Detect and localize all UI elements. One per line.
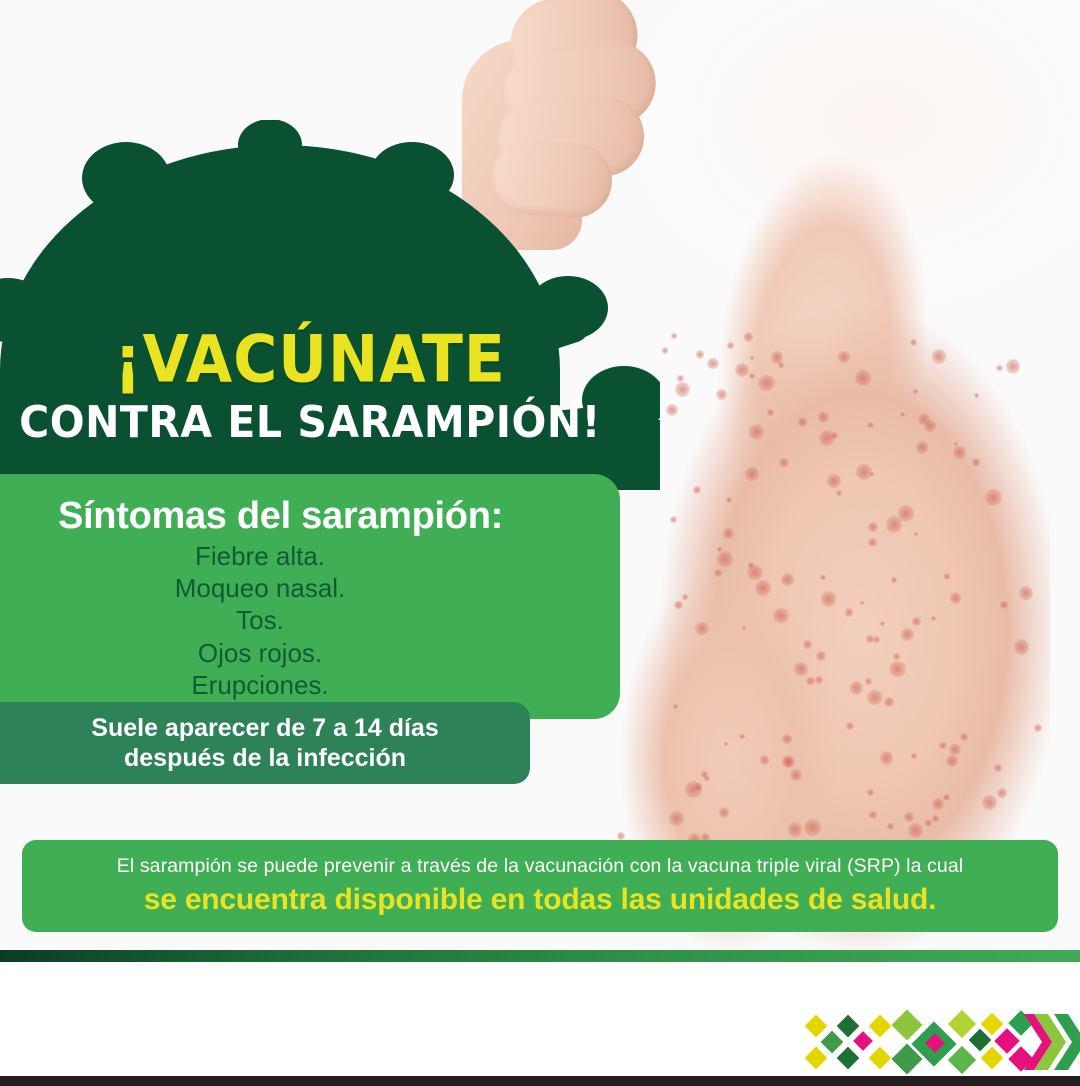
rash-spot xyxy=(889,661,905,677)
rash-spot xyxy=(821,591,837,607)
rash-spot xyxy=(932,815,939,822)
measles-vaccination-poster: ¡VACÚNATE CONTRA EL SARAMPIÓN! Síntomas … xyxy=(0,0,1080,1086)
rash-spot xyxy=(750,356,754,360)
rash-spot xyxy=(867,690,882,705)
rash-spot xyxy=(943,794,950,801)
symptom-item: Erupciones. xyxy=(30,669,490,701)
rash-spot xyxy=(869,811,877,819)
rash-spot xyxy=(908,823,923,838)
rash-spot xyxy=(735,363,749,377)
symptoms-list: Fiebre alta.Moqueo nasal.Tos.Ojos rojos.… xyxy=(30,540,590,701)
rash-spot xyxy=(717,551,733,567)
headline-sub: CONTRA EL SARAMPIÓN! xyxy=(0,397,620,448)
rash-spot xyxy=(997,788,1007,798)
incubation-period-badge: Suele aparecer de 7 a 14 días después de… xyxy=(0,702,530,784)
rash-spot xyxy=(916,441,928,453)
rash-spot xyxy=(815,676,823,684)
rash-spot xyxy=(773,608,788,623)
rash-spot xyxy=(994,764,1002,772)
symptom-item: Tos. xyxy=(30,604,490,636)
rash-spot xyxy=(758,375,774,391)
rash-spot xyxy=(779,458,789,468)
rash-spot xyxy=(739,734,745,740)
symptoms-title: Síntomas del sarampión: xyxy=(30,496,590,538)
prevention-message-banner: El sarampión se puede prevenir a través … xyxy=(22,840,1058,932)
rash-spot xyxy=(893,653,900,660)
incubation-line-2: después de la infección xyxy=(124,744,406,772)
rash-spot xyxy=(695,622,709,636)
rash-spot xyxy=(745,467,759,481)
rash-spot xyxy=(696,350,704,358)
rash-spot xyxy=(901,628,913,640)
rash-spot xyxy=(662,347,668,353)
rash-spot xyxy=(806,677,815,686)
rash-spot xyxy=(950,592,962,604)
rash-spot xyxy=(1006,359,1020,373)
rash-spot xyxy=(816,651,826,661)
rash-spot xyxy=(749,373,755,379)
rash-spot xyxy=(868,538,877,547)
rash-spot xyxy=(747,565,763,581)
rash-spot xyxy=(855,370,871,386)
rash-spot xyxy=(803,640,812,649)
rash-spot xyxy=(717,547,722,552)
rash-spot xyxy=(760,755,769,764)
rash-spot xyxy=(788,822,802,836)
rash-spot xyxy=(884,697,894,707)
rash-spot xyxy=(694,783,702,791)
rash-spot xyxy=(996,365,1002,371)
footer-divider xyxy=(0,950,1080,962)
symptom-item: Moqueo nasal. xyxy=(30,572,490,604)
symptoms-panel: Síntomas del sarampión: Fiebre alta.Moqu… xyxy=(0,474,620,719)
rash-spot xyxy=(719,807,730,818)
rash-spot xyxy=(798,417,807,426)
rash-spot xyxy=(974,393,979,398)
rash-spot xyxy=(1019,586,1033,600)
rash-spot xyxy=(960,733,968,741)
rash-spot xyxy=(669,811,684,826)
rash-spot xyxy=(856,464,871,479)
rash-spot xyxy=(674,601,682,609)
rash-spot xyxy=(932,349,947,364)
rash-spot xyxy=(868,522,878,532)
rash-spot xyxy=(982,795,997,810)
rash-spot xyxy=(914,532,918,536)
message-line-1: El sarampión se puede prevenir a través … xyxy=(117,855,963,878)
rash-spot xyxy=(744,332,753,341)
rash-spot xyxy=(867,789,874,796)
rash-spot xyxy=(880,751,893,764)
rash-spot xyxy=(911,753,917,759)
rash-spot xyxy=(867,422,874,429)
rash-spot xyxy=(880,621,885,626)
symptom-item: Ojos rojos. xyxy=(30,637,490,669)
rash-spot xyxy=(771,351,784,364)
rash-spot xyxy=(804,819,821,836)
rash-spot xyxy=(767,409,773,415)
rash-spot xyxy=(845,608,854,617)
rash-spot xyxy=(755,580,771,596)
rash-spot xyxy=(749,424,765,440)
rash-spot xyxy=(675,382,690,397)
headline-main: ¡VACÚNATE xyxy=(0,328,620,393)
rash-spot xyxy=(818,411,829,422)
rash-spot xyxy=(850,681,864,695)
symptom-item: Fiebre alta. xyxy=(30,540,490,572)
rash-spot xyxy=(707,358,719,370)
rash-spot xyxy=(682,594,688,600)
rash-spot xyxy=(819,430,835,446)
decorative-pattern xyxy=(800,1010,1080,1074)
headline: ¡VACÚNATE CONTRA EL SARAMPIÓN! xyxy=(0,330,620,446)
rash-spot xyxy=(898,505,915,522)
message-line-2: se encuentra disponible en todas las uni… xyxy=(144,883,937,917)
rash-spot xyxy=(820,575,826,581)
rash-spot xyxy=(887,823,894,830)
rash-spot xyxy=(704,776,709,781)
bottom-strip xyxy=(0,1076,1080,1086)
rash-spot xyxy=(944,573,951,580)
rash-spot xyxy=(1034,724,1042,732)
incubation-line-1: Suele aparecer de 7 a 14 días xyxy=(91,714,438,742)
